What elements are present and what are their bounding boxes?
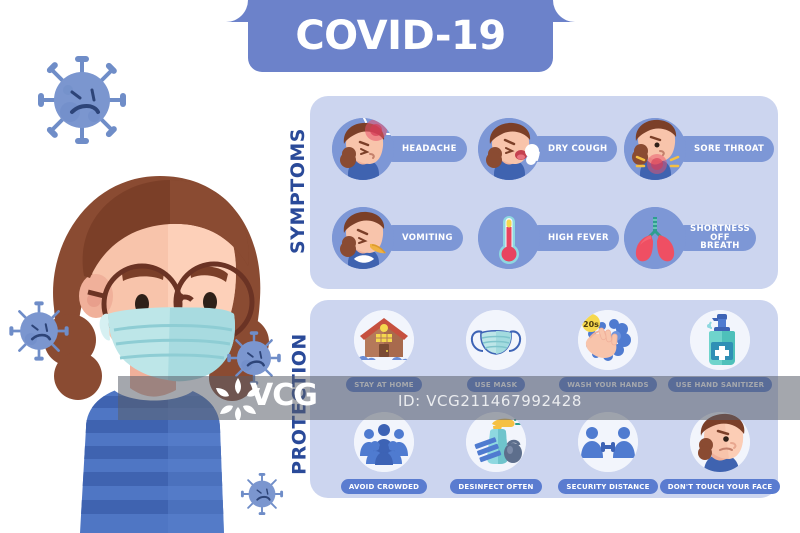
- protection-item-avoid-crowded[interactable]: AVOID CROWDED: [332, 412, 436, 494]
- protection-label-desinfect-often: DESINFECT OFTEN: [450, 479, 541, 494]
- title-banner: COVID-19: [248, 0, 553, 72]
- wash-duration-badge: 20s: [583, 320, 599, 329]
- watermark-logo: VCG: [250, 378, 317, 413]
- watermark-brand: VCG: [250, 378, 317, 413]
- protection-item-desinfect-often[interactable]: DESINFECT OFTEN: [444, 412, 548, 494]
- washing-hands-icon: 20s: [578, 310, 638, 370]
- protection-label-avoid-crowded: AVOID CROWDED: [341, 479, 427, 494]
- house-icon: [354, 310, 414, 370]
- girl-face-icon: [690, 412, 750, 472]
- symptom-item-sore-throat[interactable]: SORE THROAT: [624, 118, 774, 180]
- girl-headache-icon: [332, 118, 394, 180]
- symptom-label-sore-throat: SORE THROAT: [672, 136, 774, 162]
- symptom-item-high-fever[interactable]: HIGH FEVER: [478, 207, 619, 269]
- watermark-id: ID: VCG211467992428: [398, 392, 582, 410]
- symptom-item-shortness-of-breath[interactable]: SHORTNESS OFF BREATH: [624, 207, 756, 269]
- symptom-item-headache[interactable]: HEADACHE: [332, 118, 467, 180]
- virus-particle-icon: [240, 472, 284, 516]
- spray-bottle-icon: [466, 412, 526, 472]
- virus-particle-icon: [8, 300, 70, 362]
- girl-coughing-icon: [478, 118, 540, 180]
- page-title: COVID-19: [295, 13, 505, 59]
- protection-item-dont-touch-face[interactable]: DON'T TOUCH YOUR FACE: [668, 412, 772, 494]
- social-distance-icon: [578, 412, 638, 472]
- banner-notch-right: [553, 0, 575, 22]
- thermometer-icon: [478, 207, 540, 269]
- girl-sore-throat-icon: [624, 118, 686, 180]
- face-mask-icon: [466, 310, 526, 370]
- virus-particle-icon: [36, 54, 128, 146]
- protection-label-security-distance: SECURITY DISTANCE: [558, 479, 657, 494]
- symptom-item-dry-cough[interactable]: DRY COUGH: [478, 118, 617, 180]
- banner-notch-left: [226, 0, 248, 22]
- crowd-icon: [354, 412, 414, 472]
- protection-label-dont-touch-face: DON'T TOUCH YOUR FACE: [660, 479, 781, 494]
- symptom-item-vomiting[interactable]: VOMITING: [332, 207, 463, 269]
- section-label-symptoms: SYMPTOMS: [287, 121, 309, 261]
- protection-item-security-distance[interactable]: SECURITY DISTANCE: [556, 412, 660, 494]
- lungs-icon: [624, 207, 686, 269]
- girl-vomiting-icon: [332, 207, 394, 269]
- sanitizer-bottle-icon: [690, 310, 750, 370]
